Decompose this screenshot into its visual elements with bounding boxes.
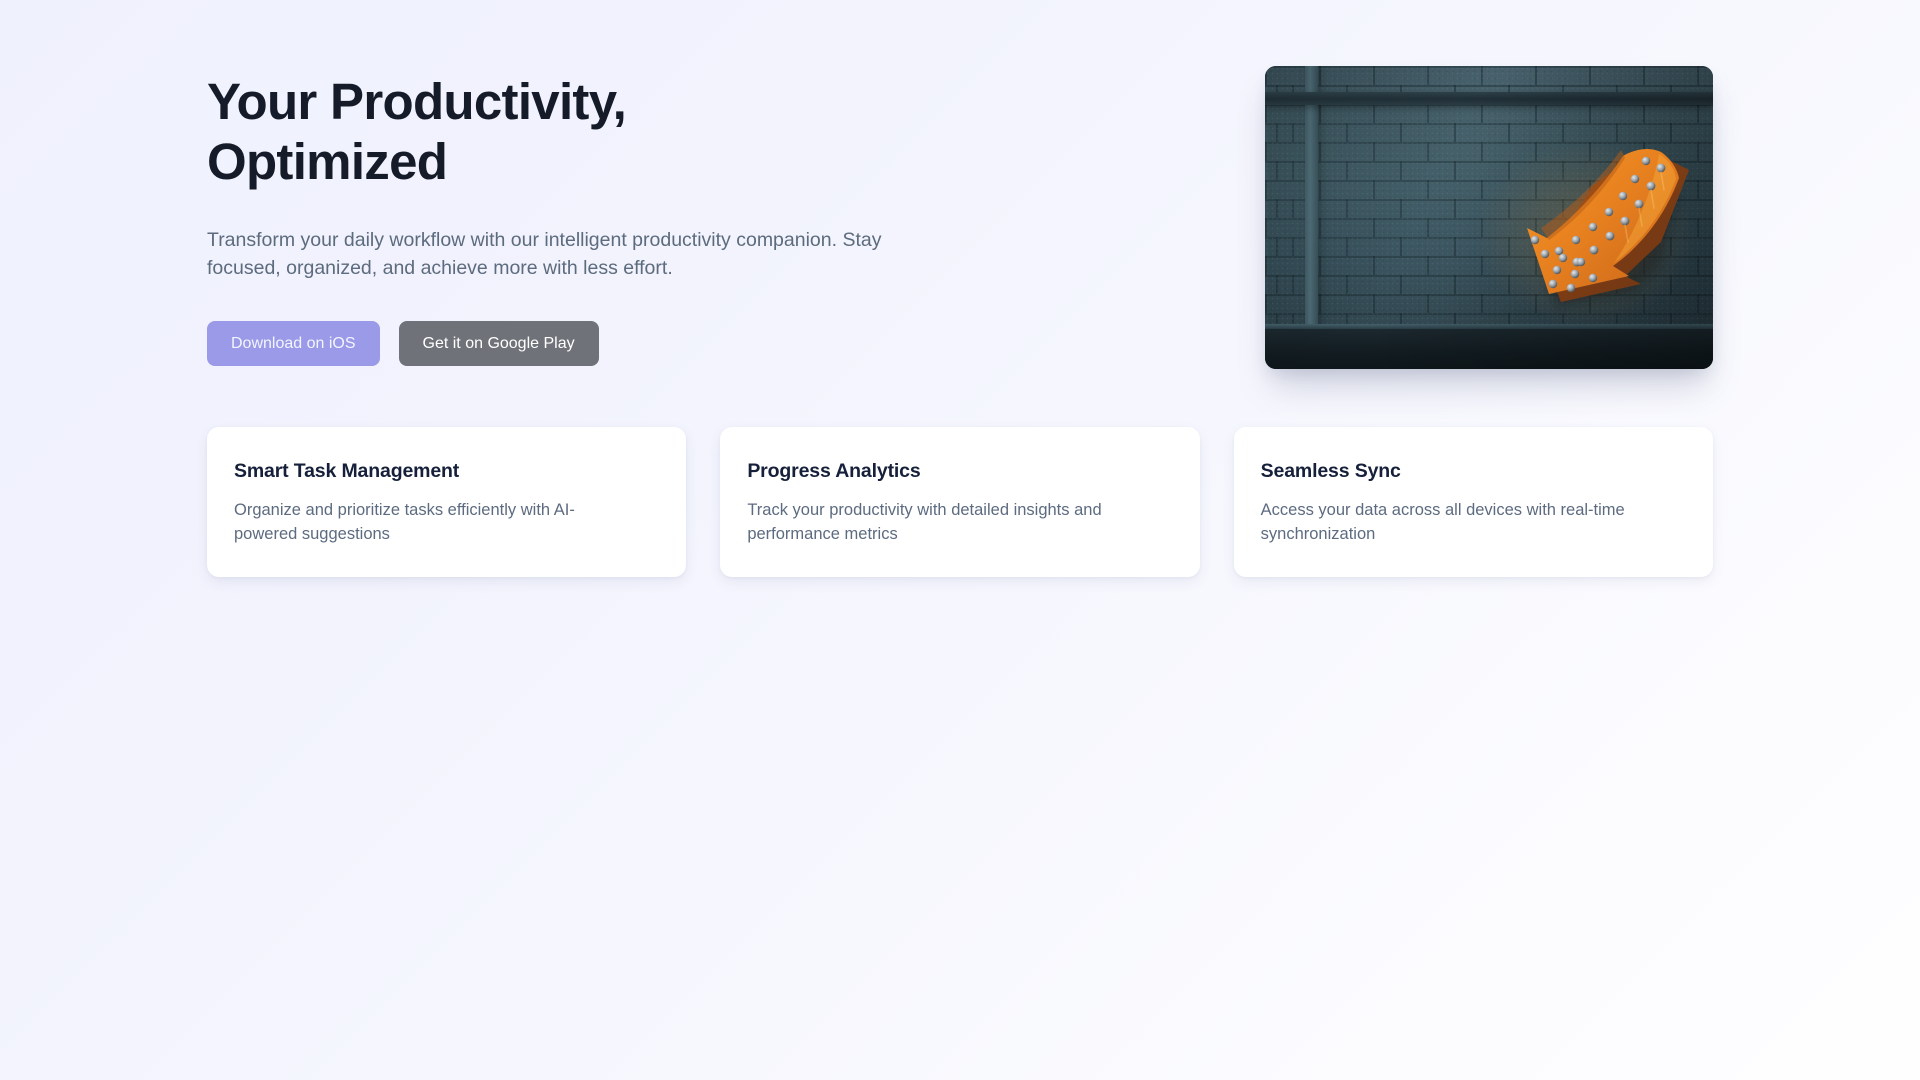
hero-section: Your Productivity, Optimized Transform y… <box>207 60 1713 369</box>
page-title: Your Productivity, Optimized <box>207 72 727 191</box>
download-on-ios-button[interactable]: Download on iOS <box>207 321 380 366</box>
feature-card-description: Access your data across all devices with… <box>1261 499 1661 547</box>
hero-cta-group: Download on iOS Get it on Google Play <box>207 321 967 366</box>
feature-card-title: Progress Analytics <box>747 460 1172 483</box>
features-section: Smart Task Management Organize and prior… <box>207 427 1713 577</box>
get-it-on-google-play-button[interactable]: Get it on Google Play <box>399 321 599 366</box>
neon-arrow-icon <box>1465 124 1705 334</box>
hero-subtitle: Transform your daily workflow with our i… <box>207 227 932 282</box>
feature-card-progress-analytics[interactable]: Progress Analytics Track your productivi… <box>720 427 1199 577</box>
feature-card-smart-task-management[interactable]: Smart Task Management Organize and prior… <box>207 427 686 577</box>
feature-card-title: Smart Task Management <box>234 460 659 483</box>
feature-card-description: Track your productivity with detailed in… <box>747 499 1147 547</box>
feature-card-seamless-sync[interactable]: Seamless Sync Access your data across al… <box>1234 427 1713 577</box>
hero-media <box>1265 66 1713 369</box>
feature-card-description: Organize and prioritize tasks efficientl… <box>234 499 634 547</box>
hero-copy: Your Productivity, Optimized Transform y… <box>207 60 967 366</box>
landing-page: Your Productivity, Optimized Transform y… <box>0 0 1920 1080</box>
feature-card-title: Seamless Sync <box>1261 460 1686 483</box>
hero-image <box>1265 66 1713 369</box>
